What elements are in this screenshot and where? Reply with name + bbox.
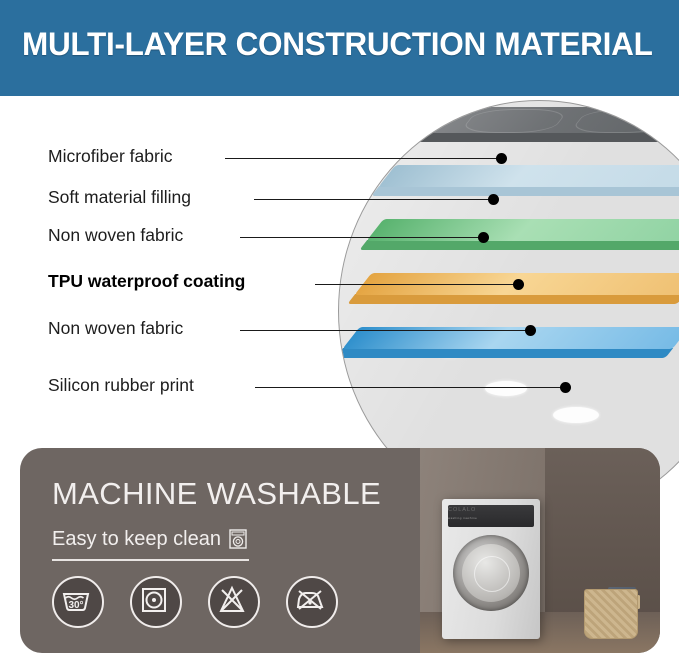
leader-line [315, 284, 518, 285]
leader-line [255, 387, 565, 388]
gray-microfiber-layer [389, 107, 679, 133]
wash-30-degrees-icon: 30° [52, 576, 104, 628]
washer-door [453, 535, 529, 611]
header-banner: MULTI-LAYER CONSTRUCTION MATERIAL [0, 0, 679, 96]
silicon-dot [485, 381, 527, 396]
washer-body: COLALO washing machine [442, 499, 540, 639]
leader-dot [560, 382, 571, 393]
quilt-stitch [569, 109, 679, 133]
washing-machine-icon [227, 528, 249, 556]
wash-temperature-label: 30° [68, 600, 83, 611]
do-not-bleach-icon [208, 576, 260, 628]
leader-dot [488, 194, 499, 205]
tumble-dry-icon [130, 576, 182, 628]
washer-brand-subtitle: washing machine [448, 516, 477, 520]
pale-blue-filling-layer [378, 165, 679, 187]
machine-washable-title: MACHINE WASHABLE [52, 476, 381, 512]
layer-label-tpu-waterproof-coating: TPU waterproof coating [48, 271, 245, 292]
washer-brand-label: COLALO [448, 507, 476, 513]
layer-label-soft-material-filling: Soft material filling [48, 187, 191, 208]
leader-dot [478, 232, 489, 243]
quilt-stitch [459, 109, 570, 133]
washer-drum [474, 556, 510, 592]
construction-diagram: Microfiber fabric Soft material filling … [0, 96, 679, 436]
washing-machine-photo: COLALO washing machine [420, 448, 660, 653]
leader-line [240, 237, 483, 238]
leader-line [225, 158, 501, 159]
layer-label-non-woven-fabric-bottom: Non woven fabric [48, 318, 183, 339]
leader-dot [496, 153, 507, 164]
laundry-basket [584, 589, 638, 639]
silicon-dot [553, 407, 599, 423]
leader-line [254, 199, 493, 200]
layer-label-non-woven-fabric-top: Non woven fabric [48, 225, 183, 246]
layer-label-silicon-rubber-print: Silicon rubber print [48, 375, 194, 396]
leader-dot [513, 279, 524, 290]
leader-dot [525, 325, 536, 336]
easy-to-keep-clean-line: Easy to keep clean [52, 528, 249, 561]
page-title: MULTI-LAYER CONSTRUCTION MATERIAL [22, 26, 652, 63]
machine-washable-panel: MACHINE WASHABLE Easy to keep clean 30° [20, 448, 660, 653]
layer-label-microfiber-fabric: Microfiber fabric [48, 146, 172, 167]
leader-line [240, 330, 530, 331]
washer-door-glass [462, 544, 520, 602]
easy-to-keep-clean-text: Easy to keep clean [52, 528, 221, 550]
do-not-iron-icon [286, 576, 338, 628]
